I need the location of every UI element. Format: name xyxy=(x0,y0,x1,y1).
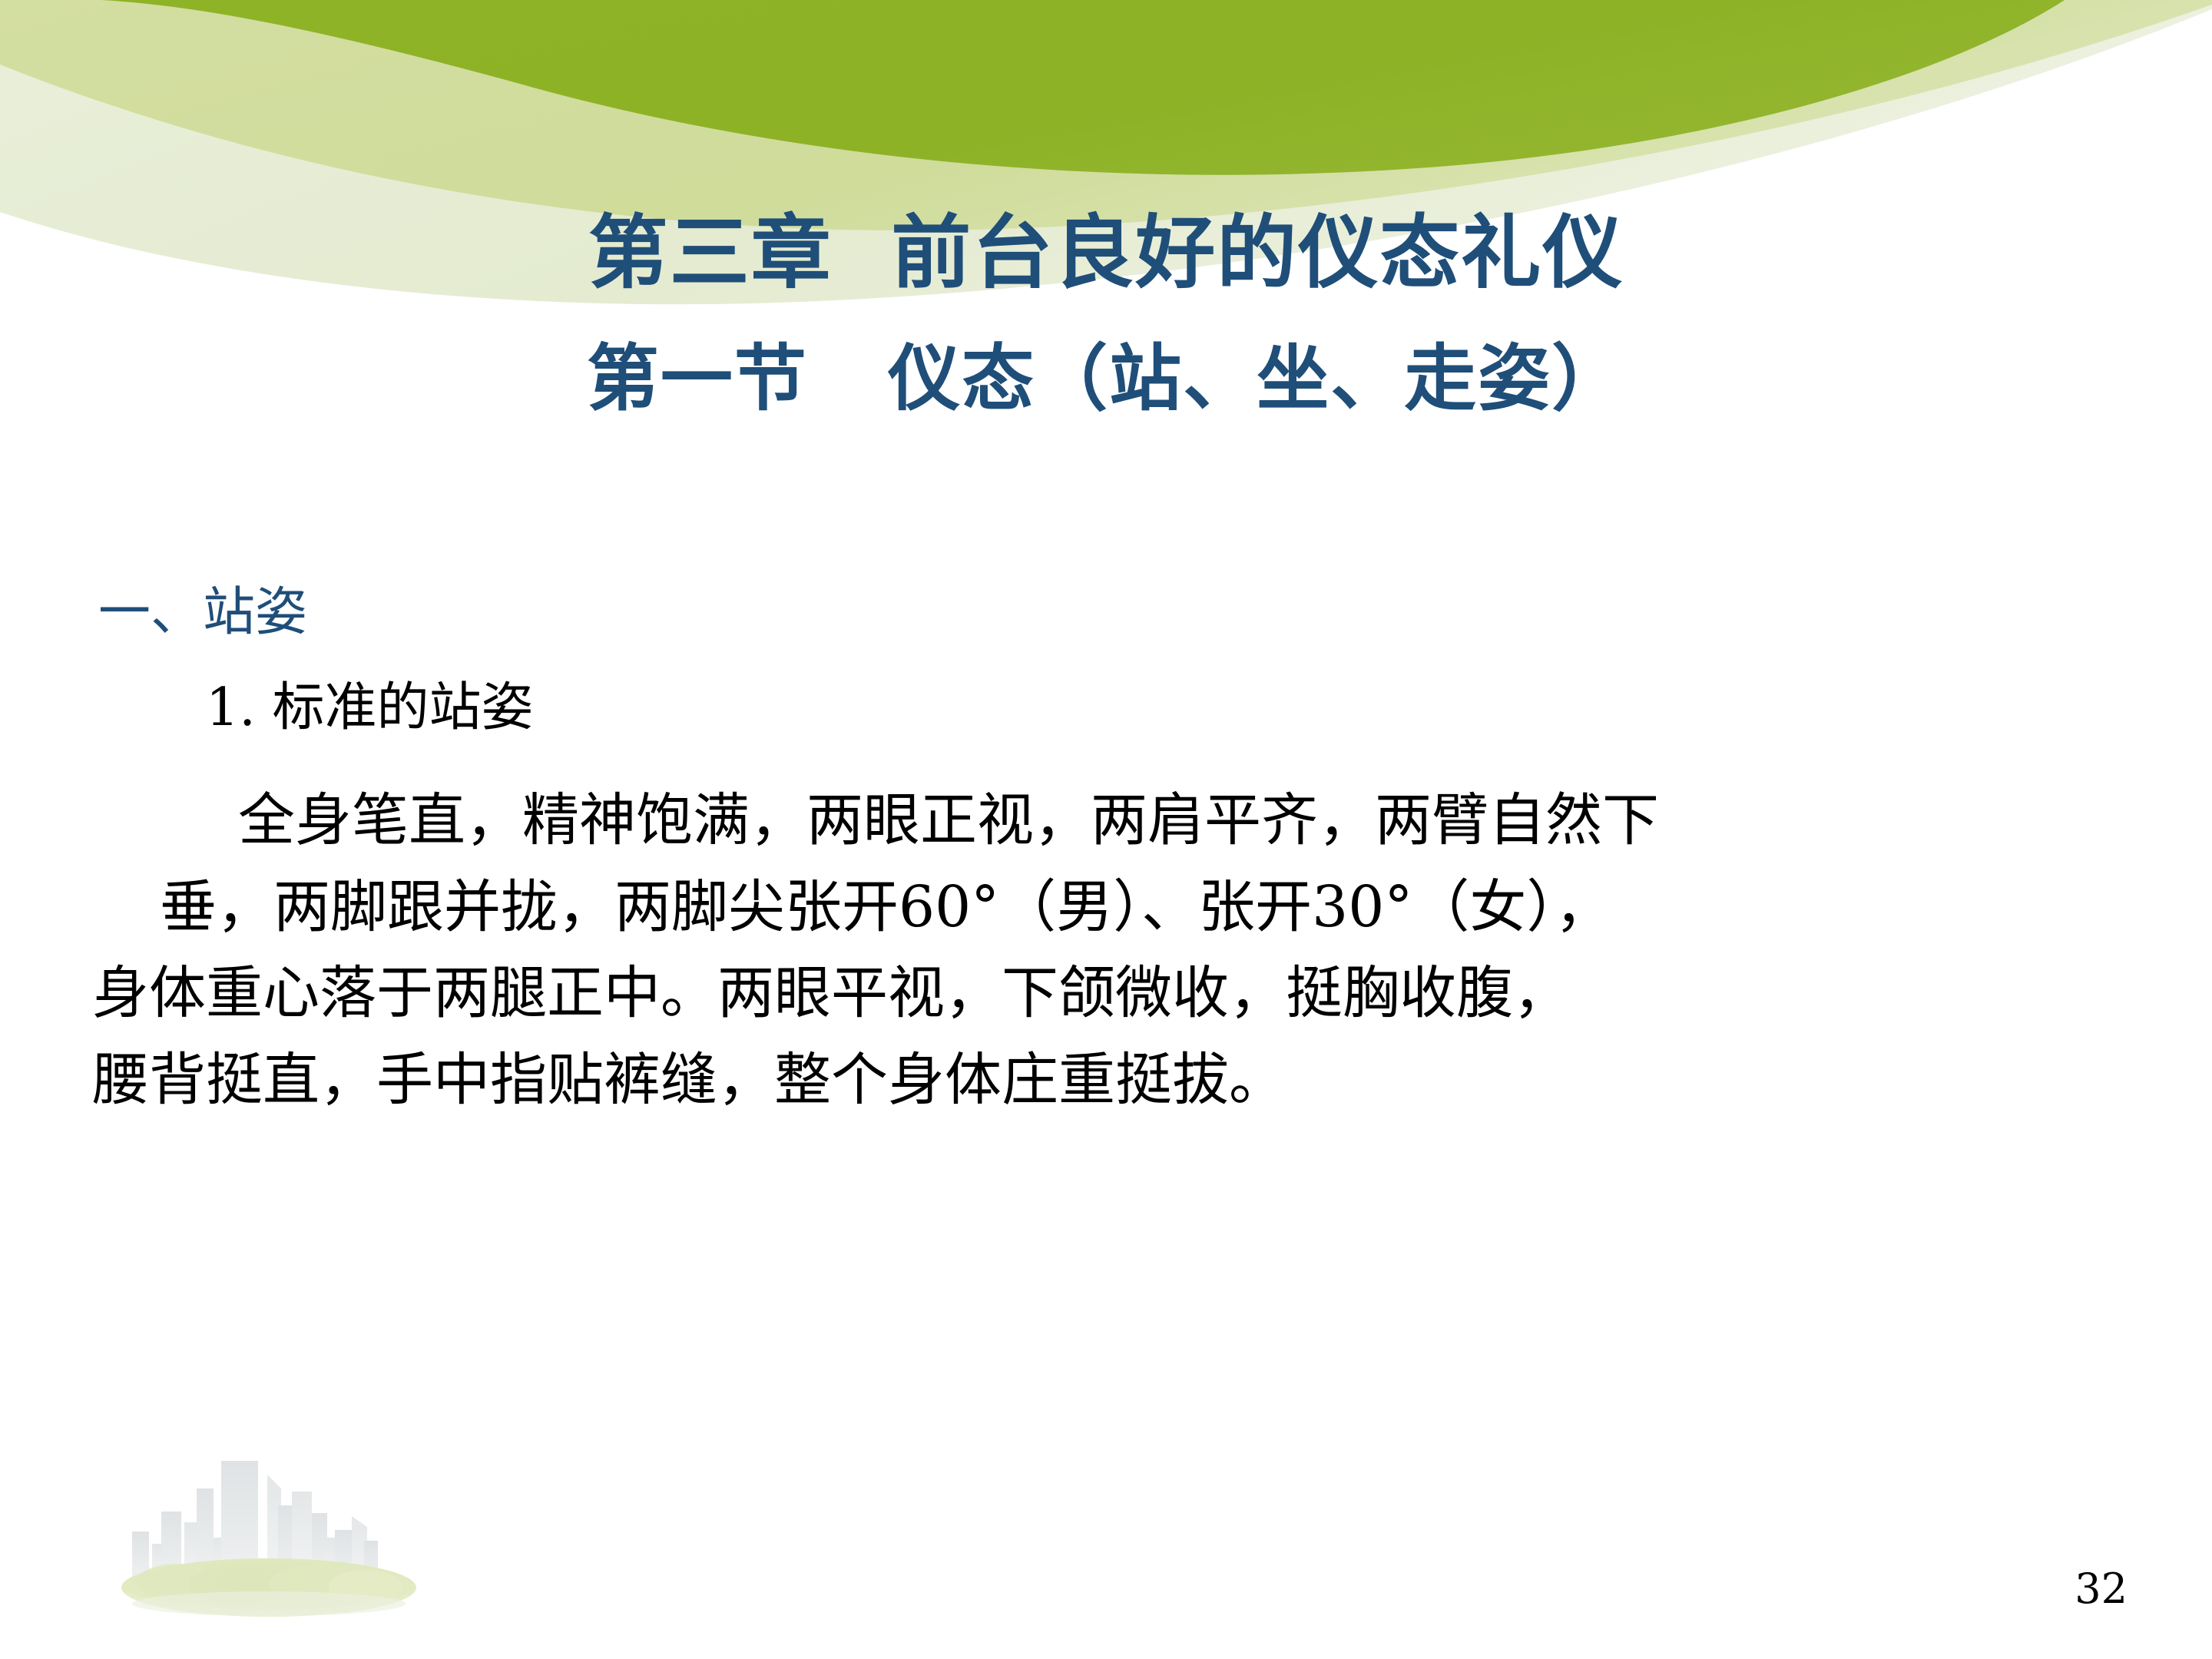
page-title: 第三章 前台良好的仪态礼仪 xyxy=(0,206,2212,300)
decor-band-mid xyxy=(0,0,2212,230)
city-skyline-watermark xyxy=(84,1415,453,1645)
page-subtitle: 第一节 仪态（站、坐、走姿） xyxy=(0,337,2212,422)
paragraph-line: 全身笔直，精神饱满，两眼正视，两肩平齐，两臂自然下 xyxy=(0,777,2212,863)
paragraph-line: 垂，两脚跟并拢，两脚尖张开60°（男）、张开30°（女）， xyxy=(0,864,2212,950)
decor-band-dark xyxy=(101,0,2065,175)
subsection-heading-standard-stance: 1. 标准的站姿 xyxy=(0,679,2212,737)
paragraph-line: 身体重心落于两腿正中。两眼平视，下颌微收，挺胸收腹， xyxy=(0,950,2212,1036)
section-heading-stance: 一、站姿 xyxy=(0,584,2212,642)
city-greenery xyxy=(121,1558,416,1617)
paragraph-line: 腰背挺直，手中指贴裤缝，整个身体庄重挺拔。 xyxy=(0,1037,2212,1123)
body-content: 一、站姿 1. 标准的站姿 全身笔直，精神饱满，两眼正视，两肩平齐，两臂自然下 … xyxy=(0,584,2212,1123)
title-block: 第三章 前台良好的仪态礼仪 第一节 仪态（站、坐、走姿） xyxy=(0,206,2212,422)
body-paragraph: 全身笔直，精神饱满，两眼正视，两肩平齐，两臂自然下 垂，两脚跟并拢，两脚尖张开6… xyxy=(0,777,2212,1123)
page-number: 32 xyxy=(2075,1565,2128,1613)
